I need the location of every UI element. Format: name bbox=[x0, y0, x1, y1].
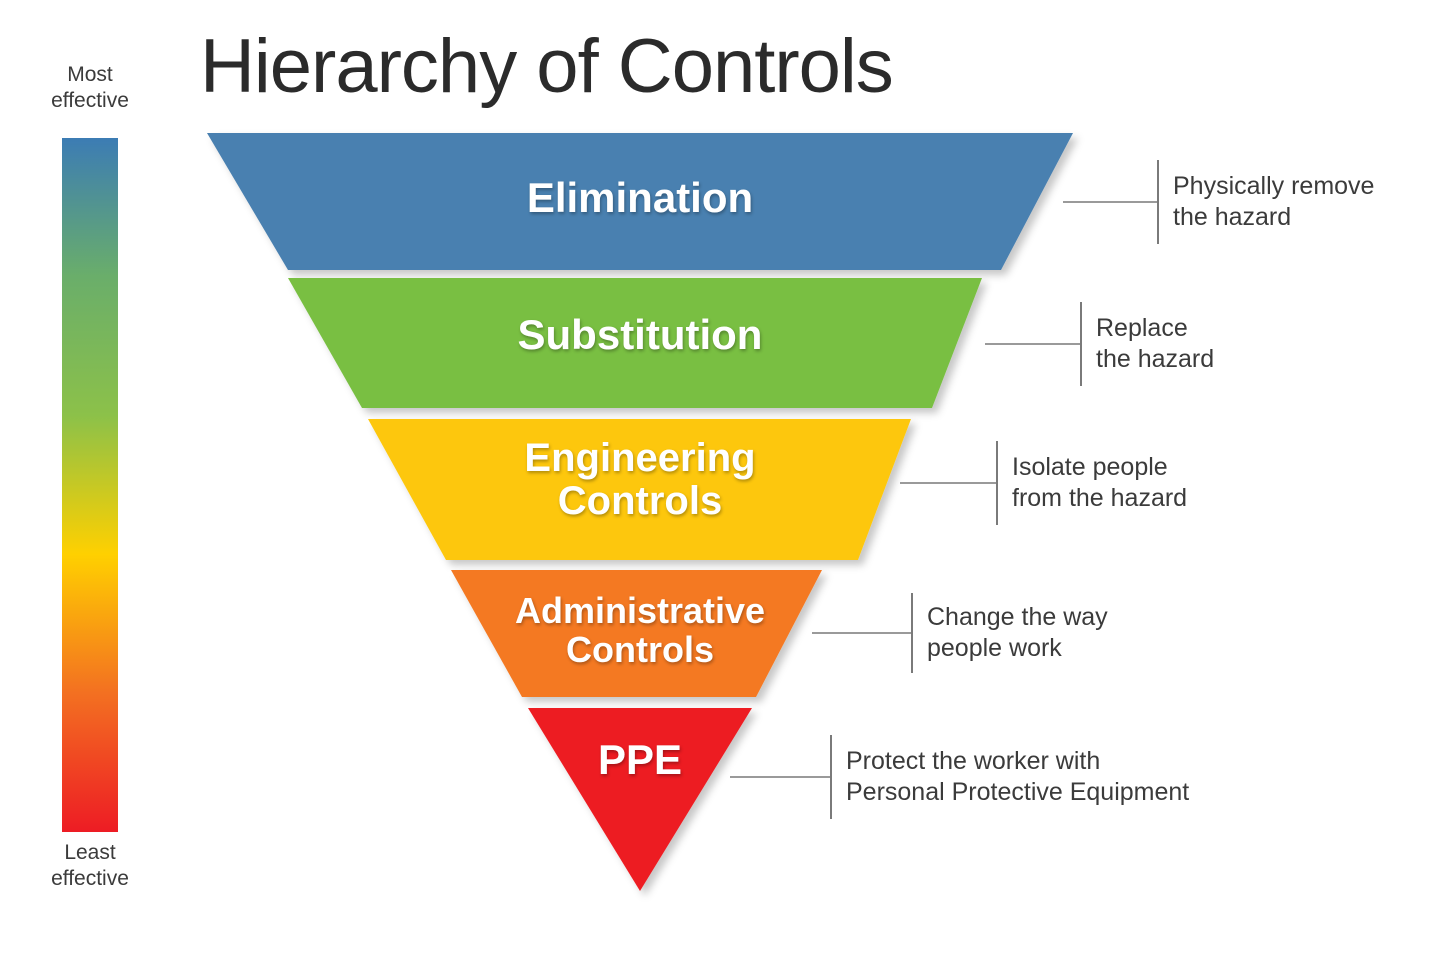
callout-text-administrative-controls: Change the way people work bbox=[913, 602, 1108, 664]
callout-substitution-line1: Replace bbox=[1096, 313, 1214, 344]
callout-engineering-line1: Isolate people bbox=[1012, 452, 1187, 483]
callout-text-engineering-controls: Isolate people from the hazard bbox=[998, 452, 1187, 514]
funnel-band-ppe[interactable] bbox=[528, 708, 752, 891]
leader-line-icon bbox=[730, 776, 830, 778]
callout-ppe-line2: Personal Protective Equipment bbox=[846, 777, 1189, 808]
callout-text-elimination: Physically remove the hazard bbox=[1159, 171, 1374, 233]
leader-line-icon bbox=[900, 482, 996, 484]
funnel-band-engineering-controls[interactable] bbox=[368, 419, 911, 560]
leader-line-icon bbox=[985, 343, 1080, 345]
callout-text-substitution: Replace the hazard bbox=[1082, 313, 1214, 375]
funnel-band-administrative-controls[interactable] bbox=[451, 570, 822, 697]
diagram-canvas: Hierarchy of Controls Most effective Lea… bbox=[0, 0, 1440, 953]
callout-administrative-controls: Change the way people work bbox=[812, 593, 1108, 673]
callout-administrative-line2: people work bbox=[927, 633, 1108, 664]
callout-substitution-line2: the hazard bbox=[1096, 344, 1214, 375]
callout-engineering-line2: from the hazard bbox=[1012, 483, 1187, 514]
inverted-pyramid bbox=[0, 0, 1440, 953]
leader-line-icon bbox=[812, 632, 911, 634]
callout-ppe-line1: Protect the worker with bbox=[846, 746, 1189, 777]
callout-text-ppe: Protect the worker with Personal Protect… bbox=[832, 746, 1189, 808]
funnel-band-elimination[interactable] bbox=[207, 133, 1073, 270]
callout-elimination-line1: Physically remove bbox=[1173, 171, 1374, 202]
funnel-band-substitution[interactable] bbox=[288, 278, 982, 408]
callout-elimination: Physically remove the hazard bbox=[1063, 160, 1374, 244]
callout-ppe: Protect the worker with Personal Protect… bbox=[730, 735, 1189, 819]
callout-substitution: Replace the hazard bbox=[985, 302, 1214, 386]
callout-elimination-line2: the hazard bbox=[1173, 202, 1374, 233]
callout-administrative-line1: Change the way bbox=[927, 602, 1108, 633]
leader-line-icon bbox=[1063, 201, 1157, 203]
callout-engineering-controls: Isolate people from the hazard bbox=[900, 441, 1187, 525]
